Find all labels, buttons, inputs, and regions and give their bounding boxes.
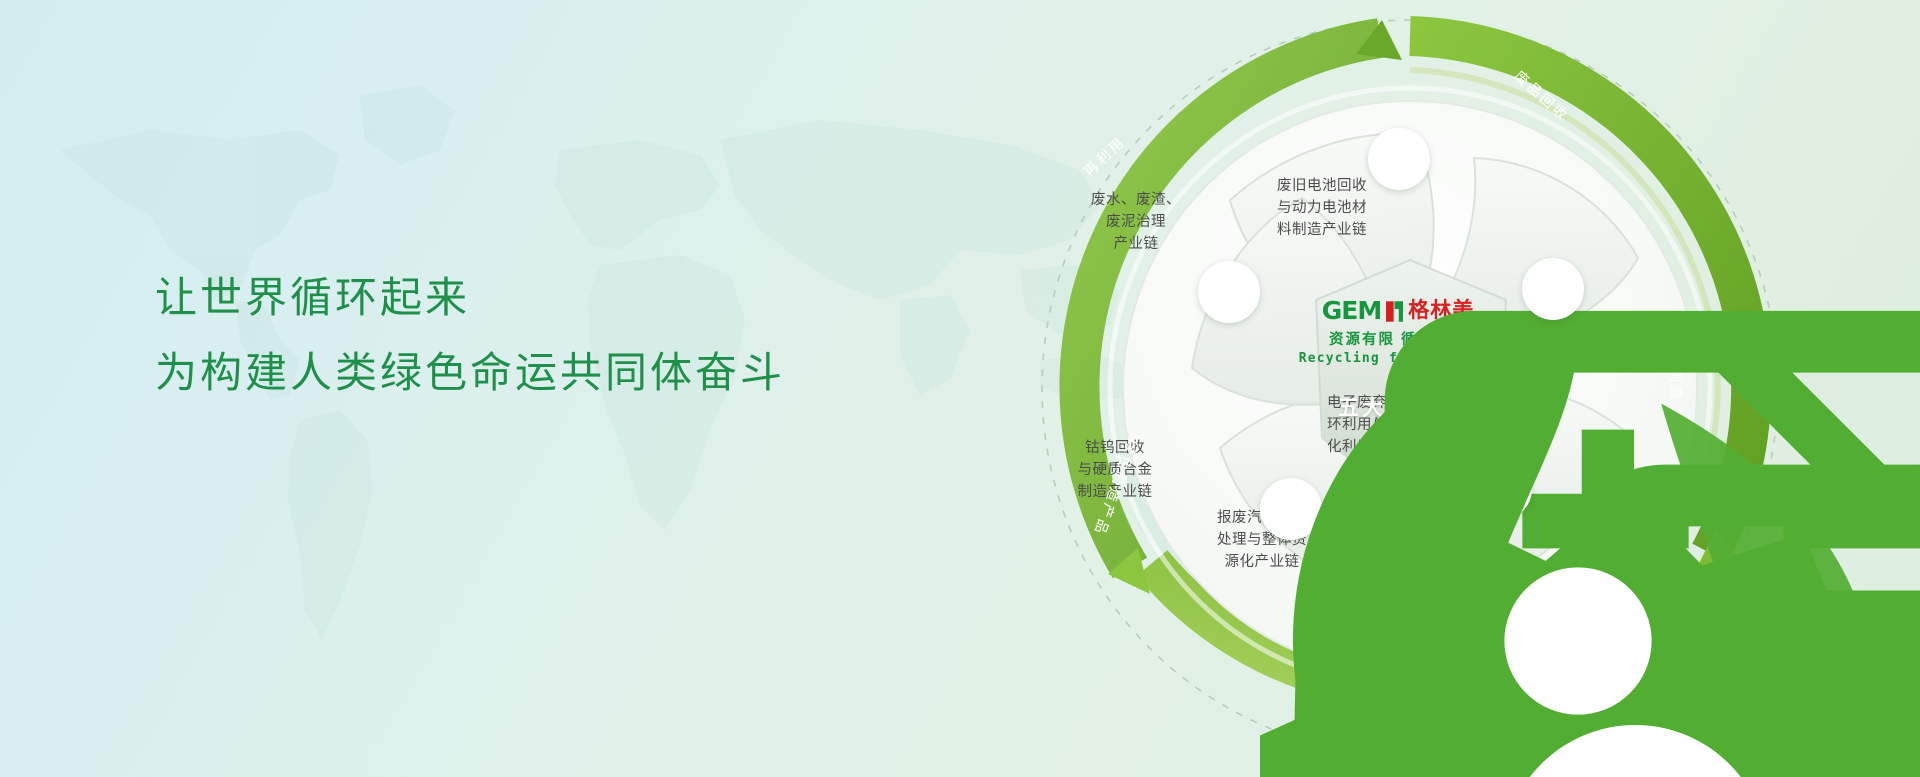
recycle-icon-bubble: [1198, 261, 1260, 323]
battery-icon-bubble: [1368, 128, 1430, 190]
headline: 让世界循环起来 为构建人类绿色命运共同体奋斗: [155, 268, 915, 404]
industry-chain-diagram: 废水、废渣、 废泥治理 产业链 废旧电池回收 与动力电池材 料制造产业链 电子废…: [1030, 8, 1790, 768]
headline-line-2: 为构建人类绿色命运共同体奋斗: [155, 343, 915, 404]
headline-line-1: 让世界循环起来: [155, 268, 915, 329]
